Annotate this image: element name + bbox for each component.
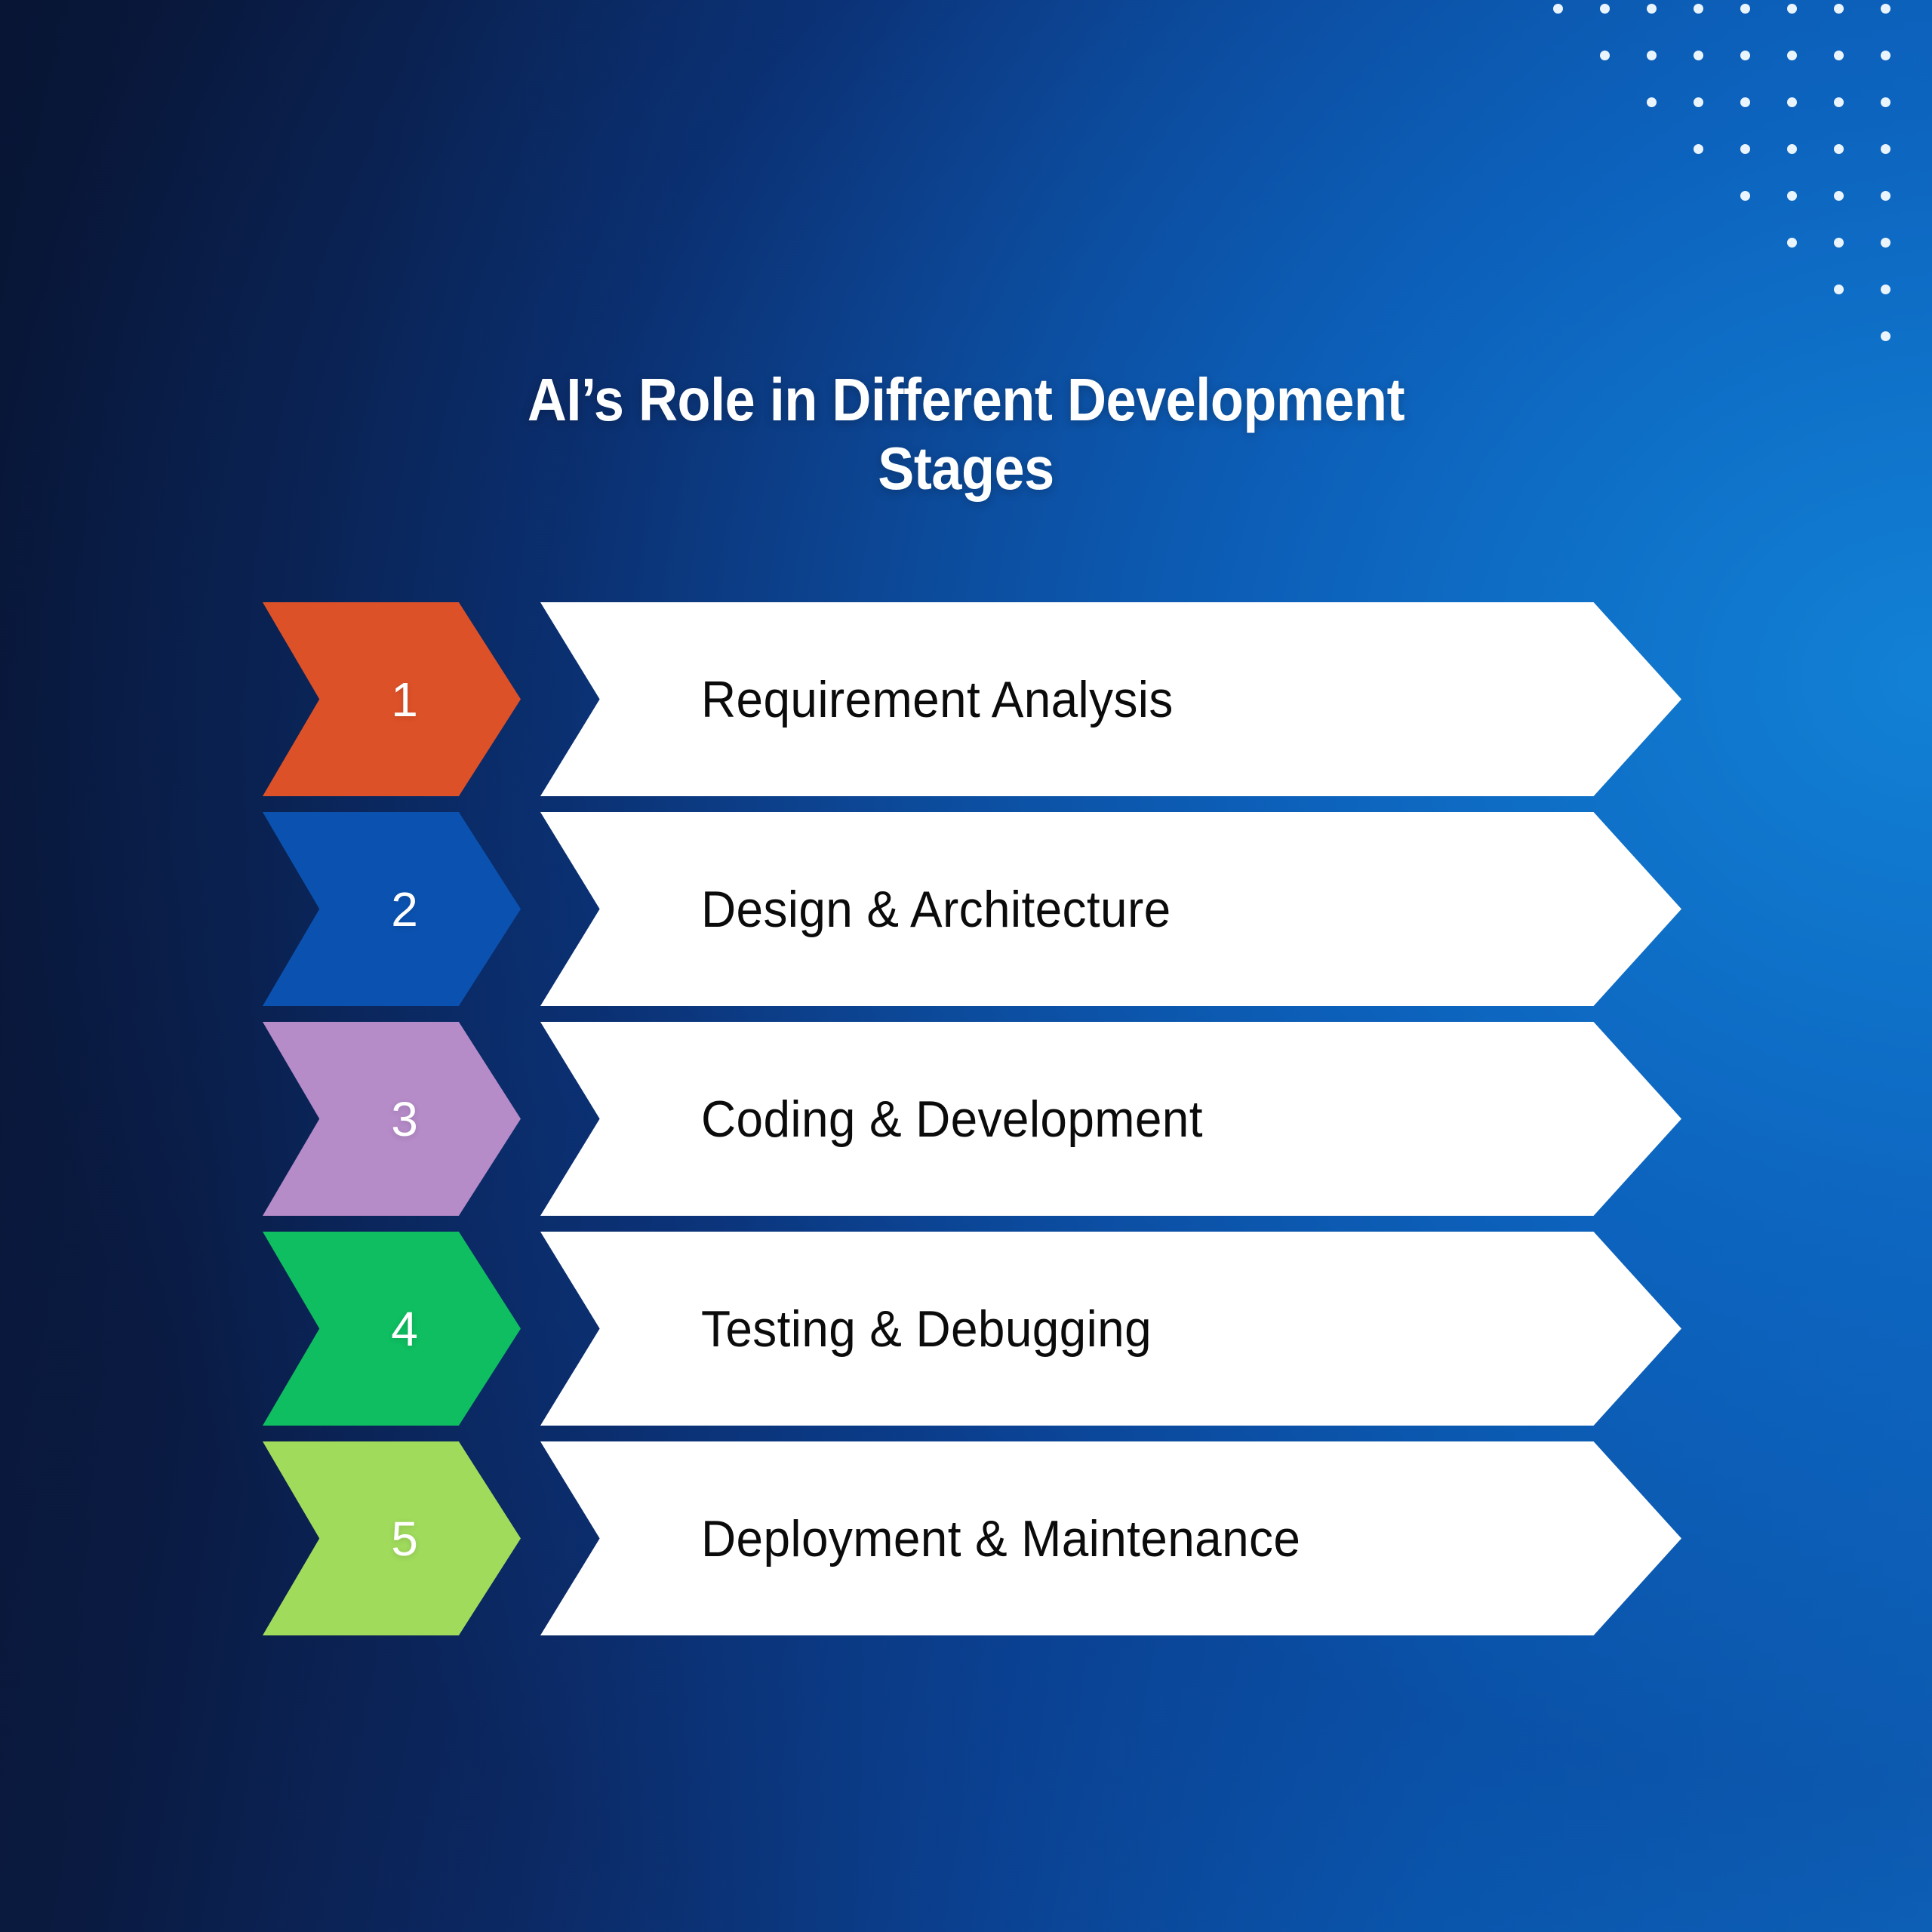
stage-number: 3 bbox=[391, 1095, 418, 1143]
page-title-line-2: Stages bbox=[382, 434, 1550, 503]
ornament-dot bbox=[1834, 97, 1844, 107]
stage-number-chevron: 1 bbox=[263, 602, 521, 796]
stage-number-chevron: 2 bbox=[263, 812, 521, 1006]
stage-label-chevron: Deployment & Maintenance bbox=[540, 1441, 1681, 1635]
ornament-dot bbox=[1881, 238, 1890, 248]
ornament-dot bbox=[1834, 4, 1844, 14]
ornament-dot bbox=[1787, 4, 1797, 14]
ornament-dot bbox=[1787, 51, 1797, 60]
ornament-dot bbox=[1881, 331, 1890, 341]
ornament-dot bbox=[1740, 191, 1750, 201]
ornament-dot bbox=[1881, 144, 1890, 154]
stage-label-chevron: Testing & Debugging bbox=[540, 1232, 1681, 1426]
stage-row: 1Requirement Analysis bbox=[263, 602, 1681, 796]
ornament-dot bbox=[1740, 144, 1750, 154]
ornament-dot bbox=[1834, 144, 1844, 154]
stage-label-chevron: Design & Architecture bbox=[540, 812, 1681, 1006]
ornament-dot bbox=[1647, 51, 1657, 60]
stage-number: 2 bbox=[391, 885, 418, 934]
stage-number-chevron: 5 bbox=[263, 1441, 521, 1635]
ornament-dot bbox=[1881, 4, 1890, 14]
ornament-dot bbox=[1787, 144, 1797, 154]
stage-label: Coding & Development bbox=[701, 1094, 1203, 1145]
ornament-dot bbox=[1694, 4, 1703, 14]
stage-label: Deployment & Maintenance bbox=[701, 1513, 1300, 1564]
ornament-dot bbox=[1694, 51, 1703, 60]
ornament-dot bbox=[1834, 285, 1844, 294]
infographic-canvas: AI’s Role in Different Development Stage… bbox=[0, 0, 1932, 1932]
ornament-dot bbox=[1740, 51, 1750, 60]
stage-label-chevron: Requirement Analysis bbox=[540, 602, 1681, 796]
stage-row: 2Design & Architecture bbox=[263, 812, 1681, 1006]
ornament-dot bbox=[1881, 191, 1890, 201]
stage-number: 1 bbox=[391, 675, 418, 724]
stage-label: Design & Architecture bbox=[701, 884, 1171, 935]
ornament-dot bbox=[1834, 238, 1844, 248]
ornament-dot bbox=[1647, 4, 1657, 14]
ornament-dot bbox=[1881, 51, 1890, 60]
ornament-dot bbox=[1787, 191, 1797, 201]
ornament-dot bbox=[1881, 285, 1890, 294]
stage-row: 4Testing & Debugging bbox=[263, 1232, 1681, 1426]
ornament-dot bbox=[1553, 4, 1563, 14]
ornament-dot bbox=[1694, 144, 1703, 154]
stage-number: 5 bbox=[391, 1515, 418, 1563]
ornament-dot bbox=[1600, 4, 1610, 14]
ornament-dot bbox=[1834, 51, 1844, 60]
ornament-dot bbox=[1881, 97, 1890, 107]
stage-label: Testing & Debugging bbox=[701, 1303, 1152, 1355]
dot-grid-ornament bbox=[1540, 0, 1932, 392]
ornament-dot bbox=[1694, 97, 1703, 107]
ornament-dot bbox=[1834, 191, 1844, 201]
stage-number: 4 bbox=[391, 1305, 418, 1353]
stage-number-chevron: 4 bbox=[263, 1232, 521, 1426]
stage-label: Requirement Analysis bbox=[701, 674, 1174, 725]
ornament-dot bbox=[1787, 238, 1797, 248]
ornament-dot bbox=[1740, 4, 1750, 14]
stage-number-chevron: 3 bbox=[263, 1022, 521, 1216]
stage-list: 1Requirement Analysis2Design & Architect… bbox=[263, 602, 1681, 1651]
ornament-dot bbox=[1647, 97, 1657, 107]
page-title: AI’s Role in Different Development Stage… bbox=[317, 365, 1615, 503]
stage-row: 5Deployment & Maintenance bbox=[263, 1441, 1681, 1635]
ornament-dot bbox=[1740, 97, 1750, 107]
stage-label-chevron: Coding & Development bbox=[540, 1022, 1681, 1216]
page-title-line-1: AI’s Role in Different Development bbox=[382, 365, 1550, 434]
ornament-dot bbox=[1600, 51, 1610, 60]
stage-row: 3Coding & Development bbox=[263, 1022, 1681, 1216]
ornament-dot bbox=[1787, 97, 1797, 107]
